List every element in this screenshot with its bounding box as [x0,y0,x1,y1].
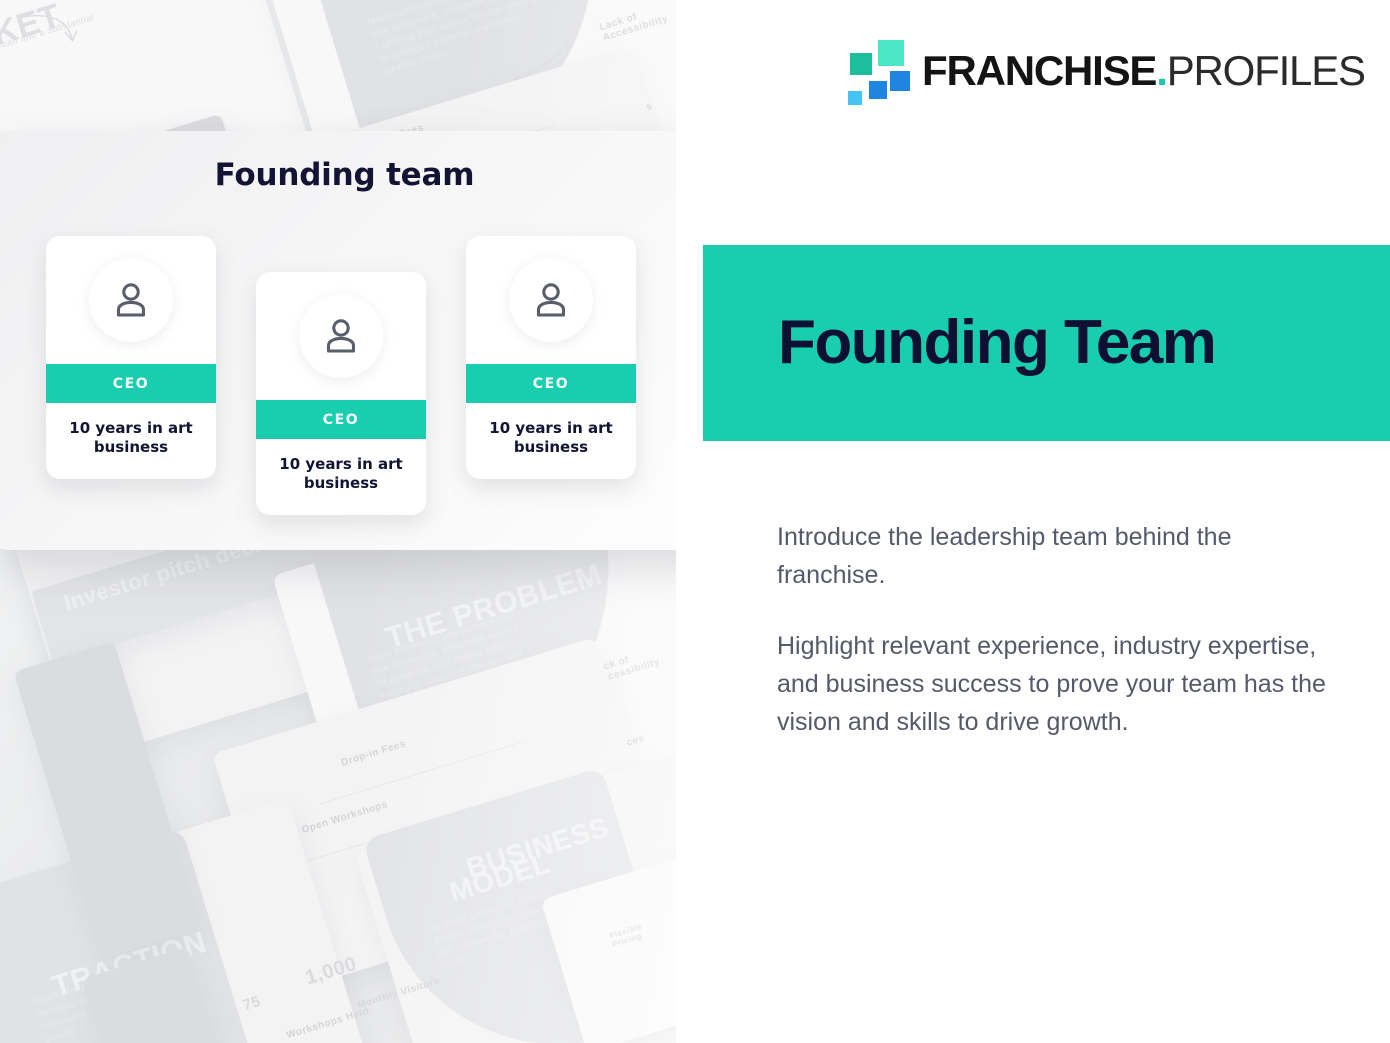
avatar [256,272,426,400]
avatar-circle [89,258,173,342]
person-icon [320,315,362,357]
member-note: 10 years in art business [466,403,636,477]
avatar [46,236,216,364]
logo-square-blue-small [869,81,887,99]
title-banner: Founding Team [703,245,1390,441]
logo-word-dot: . [1156,47,1166,94]
body-copy: Introduce the leadership team behind the… [777,518,1343,741]
team-member-card[interactable]: CEO 10 years in art business [466,236,636,479]
avatar [466,236,636,364]
logo-square-mint [878,40,904,66]
avatar-circle [299,294,383,378]
member-note: 10 years in art business [46,403,216,477]
person-icon [110,279,152,321]
right-content-panel: FRANCHISE.PROFILES Founding Team Introdu… [676,0,1390,1043]
logo-word-secondary: PROFILES [1167,47,1365,94]
member-note: 10 years in art business [256,439,426,513]
role-badge: CEO [466,364,636,403]
team-member-card[interactable]: CEO 10 years in art business [256,272,426,515]
logo-square-sky [848,91,862,105]
logo-square-teal-dark [850,53,872,75]
logo-mark-icon [848,40,906,102]
logo-word-primary: FRANCHISE [922,47,1156,94]
role-badge: CEO [256,400,426,439]
team-cards-row: CEO 10 years in art business CEO 10 year… [0,236,690,536]
logo-square-blue [890,71,910,91]
page-title: Founding Team [778,312,1215,374]
preview-title: Founding team [0,157,703,193]
slide-root: KET ces in urban and a substantial Inves… [0,0,1390,1043]
avatar-circle [509,258,593,342]
slide-preview-panel[interactable]: Founding team CEO 10 years in art busine… [0,131,703,550]
body-paragraph-2: Highlight relevant experience, industry … [777,627,1343,741]
brand-logo[interactable]: FRANCHISE.PROFILES [848,40,1365,102]
team-member-card[interactable]: CEO 10 years in art business [46,236,216,479]
body-paragraph-1: Introduce the leadership team behind the… [777,518,1343,594]
role-badge: CEO [46,364,216,403]
logo-wordmark: FRANCHISE.PROFILES [922,50,1365,92]
person-icon [530,279,572,321]
